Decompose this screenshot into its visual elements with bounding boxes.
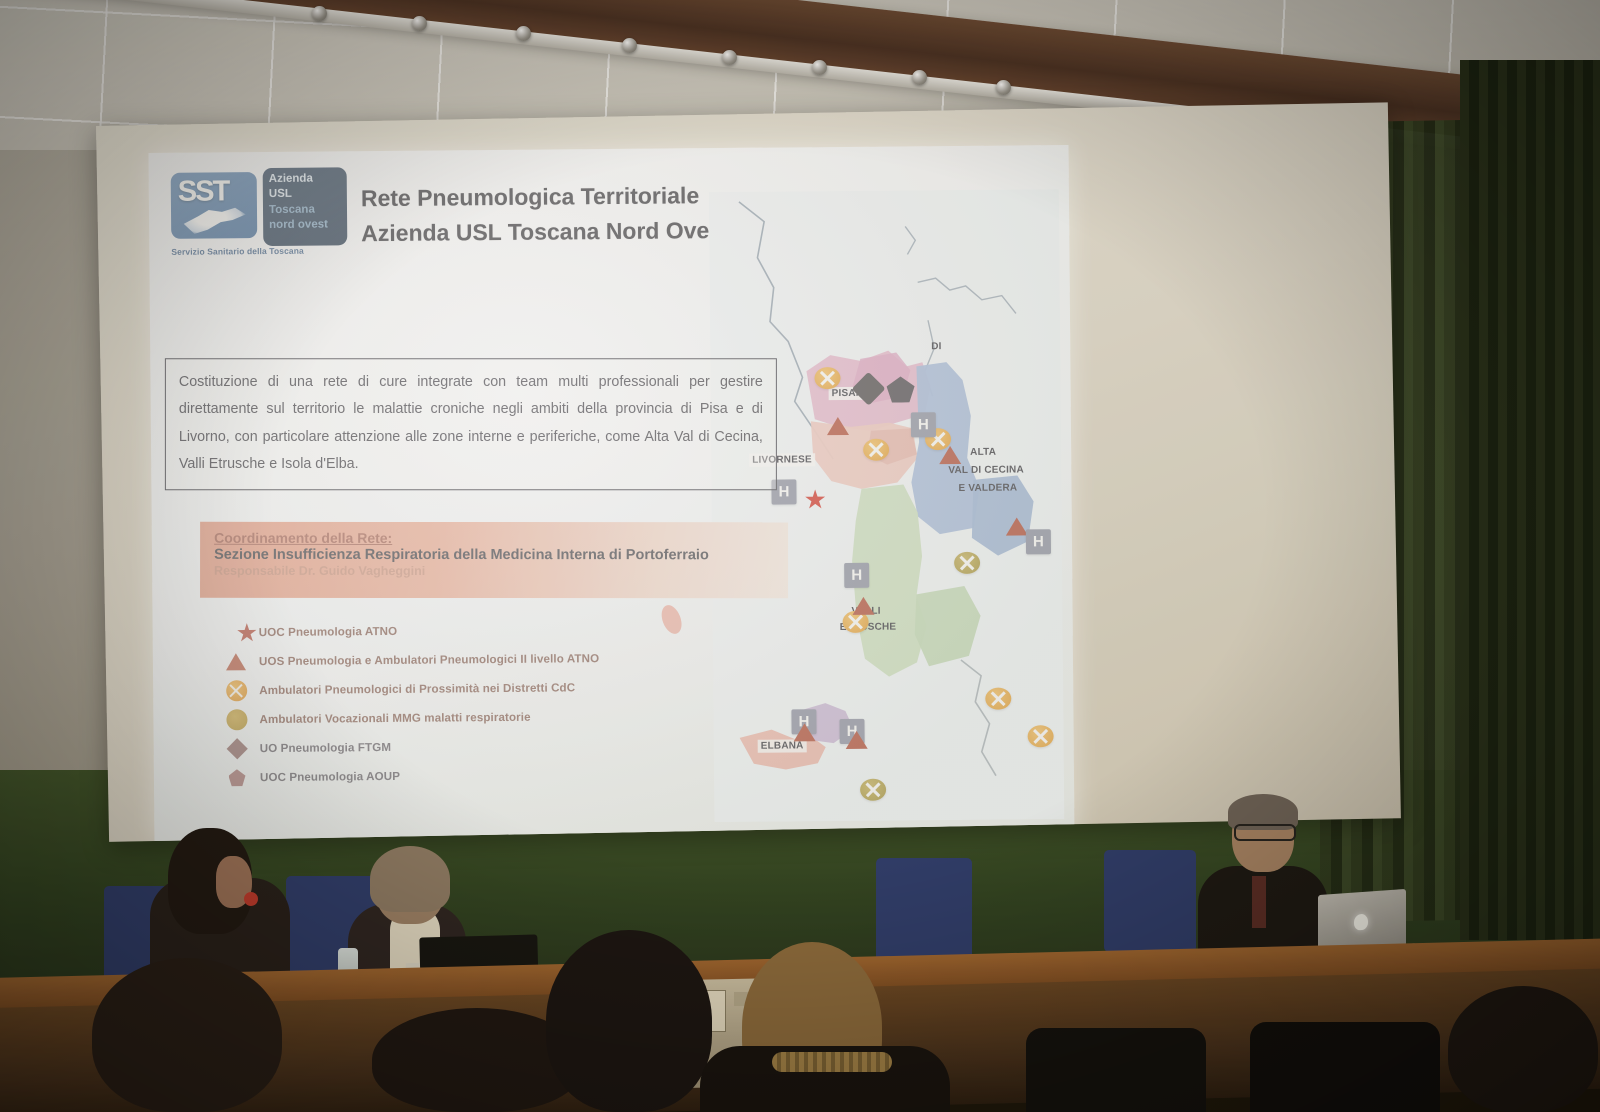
circle-plain-marker-icon xyxy=(213,709,259,730)
presentation-photo-scene: SST Azienda USL Toscana nord ovest Servi… xyxy=(0,0,1600,1112)
map-pin-triangle xyxy=(1006,517,1028,535)
chair xyxy=(1104,850,1196,952)
map-pin-hospital: H xyxy=(844,563,869,588)
slide-title-line2: Azienda USL Toscana Nord Ovest xyxy=(361,213,730,251)
glasses-icon xyxy=(1234,824,1296,841)
coordination-heading: Coordinamento della Rete: xyxy=(214,530,774,546)
ceiling-spot-light xyxy=(516,26,531,41)
chair xyxy=(876,858,972,962)
sst-logo-square: SST xyxy=(171,172,258,239)
logo-line-nordovest: nord ovest xyxy=(269,217,341,233)
ceiling-spot-light xyxy=(412,16,427,31)
ceiling-spot-light xyxy=(812,60,827,75)
slide-title: Rete Pneumologica Territoriale Azienda U… xyxy=(361,178,730,251)
legend-label: UOC Pneumologia AOUP xyxy=(260,770,400,784)
ceiling-spot-light xyxy=(312,6,327,21)
audience-head xyxy=(92,958,282,1112)
map-pin-triangle xyxy=(827,417,849,435)
map-pin-circle-x xyxy=(1028,725,1054,747)
sst-mark: SST xyxy=(178,175,229,208)
ceiling-spot-light xyxy=(912,70,927,85)
legend-item: Ambulatori Vocazionali MMG malatti respi… xyxy=(213,701,733,735)
legend-label: UO Pneumologia FTGM xyxy=(260,741,391,755)
ceiling-spot-light xyxy=(996,80,1011,95)
legend-item: UOS Pneumologia e Ambulatori Pneumologic… xyxy=(213,643,733,677)
projected-slide: SST Azienda USL Toscana nord ovest Servi… xyxy=(149,145,1075,842)
map-pin-hospital: H xyxy=(911,412,936,437)
map-label-valdicecina: VAL DI CECINA xyxy=(945,463,1027,477)
logo-line-usl: USL xyxy=(269,187,341,203)
circle-x-marker-icon xyxy=(213,680,259,701)
coordination-line3: Responsabile Dr. Guido Vagheggini xyxy=(214,564,774,578)
map-pin-triangle xyxy=(846,731,868,749)
map-pin-circle-x xyxy=(863,439,889,461)
map-shapes xyxy=(709,189,1064,822)
panelist-middle-hair xyxy=(370,846,450,912)
legend-label: UOC Pneumologia ATNO xyxy=(259,625,398,639)
ceiling-spot-light xyxy=(722,50,737,65)
legend-item: UOC Pneumologia AOUP xyxy=(214,759,734,793)
map-pin-circle-plain xyxy=(860,779,886,801)
necktie xyxy=(1252,876,1266,928)
auditorium-seat xyxy=(1250,1022,1440,1112)
map-pin-triangle xyxy=(794,723,816,741)
audience-collar xyxy=(772,1052,892,1072)
auditorium-seat xyxy=(1026,1028,1206,1112)
triangle-marker-icon xyxy=(213,653,259,670)
legend-label: Ambulatori Pneumologici di Prossimità ne… xyxy=(259,681,575,697)
curtain-edge xyxy=(1460,60,1600,940)
description-box: Costituzione di una rete di cure integra… xyxy=(165,358,777,490)
map-label-alta: ALTA xyxy=(967,446,999,459)
map-label-di: DI xyxy=(928,340,945,353)
legend-item: ★ UOC Pneumologia ATNO xyxy=(213,614,733,648)
map-pin-circle-x xyxy=(814,367,840,389)
slide-title-line1: Rete Pneumologica Territoriale xyxy=(361,178,730,216)
map-pin-circle-x xyxy=(985,688,1011,710)
description-text: Costituzione di una rete di cure integra… xyxy=(179,369,763,479)
map-label-evaldera: E VALDERA xyxy=(955,481,1020,495)
coordination-line2: Sezione Insufficienza Respiratoria della… xyxy=(214,547,774,563)
audience-head xyxy=(546,930,712,1112)
map-pin-circle-plain xyxy=(954,552,980,574)
diamond-marker-icon xyxy=(214,741,260,756)
legend-label: UOS Pneumologia e Ambulatori Pneumologic… xyxy=(259,652,599,668)
audience-head xyxy=(1448,986,1598,1112)
apple-logo-icon xyxy=(1354,914,1368,931)
microphone xyxy=(244,892,258,906)
pentagon-marker-icon xyxy=(214,769,260,786)
logo-line-azienda: Azienda xyxy=(269,171,341,187)
map-pin-triangle xyxy=(939,446,961,464)
ceiling-spot-light xyxy=(622,38,637,53)
map-pin-triangle xyxy=(852,597,874,615)
map-pin-hospital: H xyxy=(1026,529,1051,554)
legend-item: UO Pneumologia FTGM xyxy=(214,730,734,764)
coordination-box: Coordinamento della Rete: Sezione Insuff… xyxy=(200,522,788,599)
projection-screen: SST Azienda USL Toscana nord ovest Servi… xyxy=(96,102,1401,842)
logo-caption: Servizio Sanitario della Toscana xyxy=(171,245,347,257)
map-legend: ★ UOC Pneumologia ATNO UOS Pneumologia e… xyxy=(213,614,734,793)
legend-item: Ambulatori Pneumologici di Prossimità ne… xyxy=(213,672,733,706)
logo-line-toscana: Toscana xyxy=(269,202,341,218)
tuscany-map: DI PISANA LIVORNESE ALTA VAL DI CECINA E… xyxy=(709,189,1064,822)
azienda-usl-box: Azienda USL Toscana nord ovest xyxy=(263,167,348,246)
legend-label: Ambulatori Vocazionali MMG malatti respi… xyxy=(259,711,530,726)
usl-logo: SST Azienda USL Toscana nord ovest Servi… xyxy=(171,167,348,261)
